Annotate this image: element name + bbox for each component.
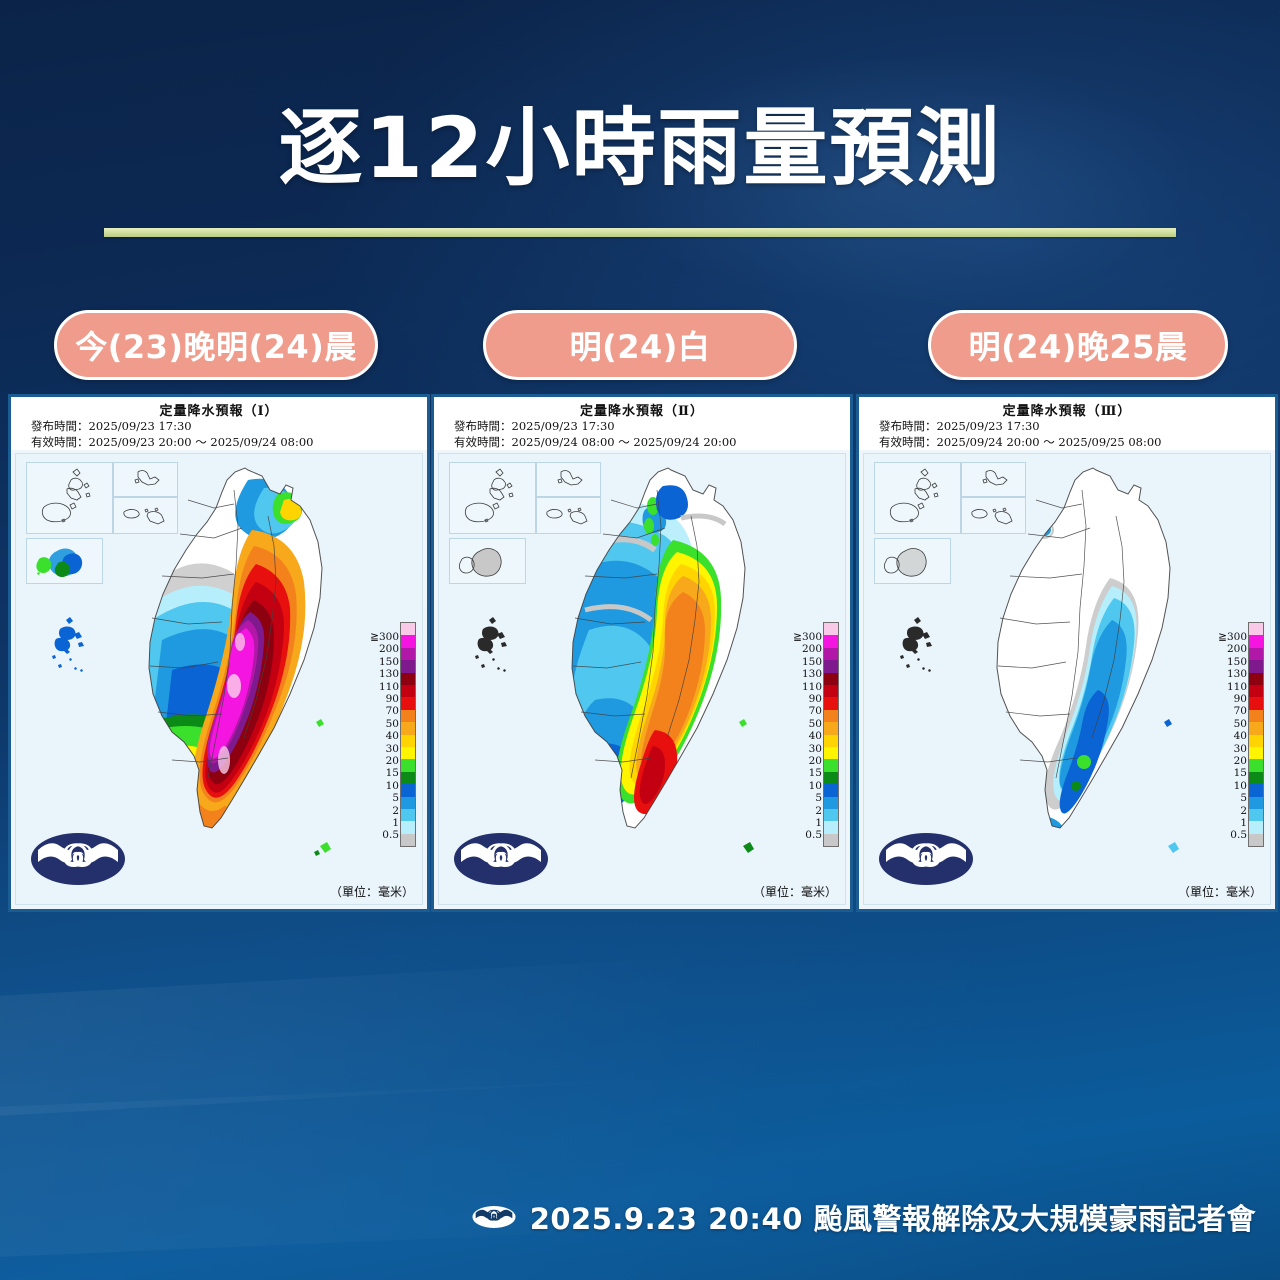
legend-2-label-10: 20 — [809, 755, 822, 767]
panel-3-issue-value: 2025/09/23 17:30 — [937, 419, 1040, 433]
legend-swatch-15 — [401, 809, 415, 821]
forecast-panel-2[interactable]: 定量降水預報（Ⅱ） 發布時間：2025/09/23 17:30 有效時間：202… — [431, 394, 853, 912]
legend-swatch-5 — [401, 685, 415, 697]
legend-swatch-1 — [824, 635, 838, 647]
legend-2-label-0: ≧300 — [793, 631, 822, 643]
legend-2-label-16: 0.5 — [805, 829, 822, 841]
legend-swatch-12 — [824, 772, 838, 784]
panel-3-valid-value: 2025/09/24 20:00 ～ 2025/09/25 08:00 — [937, 435, 1162, 449]
panel-2-valid-label: 有效時間： — [454, 435, 512, 449]
panel-2-issue-value: 2025/09/23 17:30 — [512, 419, 615, 433]
legend-1-label-14: 2 — [392, 805, 399, 817]
legend-1-labels: ≧300 200 150 130 110 90 70 50 40 30 20 1… — [370, 622, 399, 842]
panel-1-issue-value: 2025/09/23 17:30 — [89, 419, 192, 433]
legend-1-label-7: 50 — [386, 718, 399, 730]
legend-3-label-0: ≧300 — [1218, 631, 1247, 643]
legend-3-label-9: 30 — [1234, 743, 1247, 755]
forecast-panel-1[interactable]: 定量降水預報（Ⅰ） 發布時間：2025/09/23 17:30 有效時間：202… — [8, 394, 430, 912]
legend-3-label-15: 1 — [1240, 817, 1247, 829]
legend-swatch-17 — [401, 834, 415, 846]
legend-3-label-1: 200 — [1227, 643, 1247, 655]
panel-1-valid-time: 有效時間：2025/09/23 20:00 ～ 2025/09/24 08:00 — [17, 435, 421, 451]
panel-2-valid-value: 2025/09/24 08:00 ～ 2025/09/24 20:00 — [512, 435, 737, 449]
legend-2-label-15: 1 — [815, 817, 822, 829]
background-sheen-mid — [0, 924, 1280, 1116]
legend-swatch-7 — [824, 710, 838, 722]
panel-3-valid-time: 有效時間：2025/09/24 20:00 ～ 2025/09/25 08:00 — [865, 435, 1269, 451]
legend-swatch-12 — [1249, 772, 1263, 784]
panel-1-issue-time: 發布時間：2025/09/23 17:30 — [17, 419, 421, 435]
legend-3-label-7: 50 — [1234, 718, 1247, 730]
footer: 2025.9.23 20:40 颱風警報解除及大規模豪雨記者會 — [0, 1196, 1280, 1238]
page-title-wrap: 逐12小時雨量預測 — [0, 104, 1280, 192]
panel-1-header: 定量降水預報（Ⅰ） 發布時間：2025/09/23 17:30 有效時間：202… — [11, 397, 427, 450]
panel-3-unit-note: （單位：毫米） — [1178, 883, 1262, 900]
legend-swatch-9 — [1249, 735, 1263, 747]
cwa-logo-panel-2 — [453, 832, 549, 886]
legend-1-label-15: 1 — [392, 817, 399, 829]
period-pill-3-label: 明(24)晚25晨 — [969, 322, 1188, 368]
inset-penghu-2 — [449, 462, 536, 534]
legend-swatch-3 — [1249, 660, 1263, 672]
legend-swatch-11 — [1249, 759, 1263, 771]
legend-2-label-5: 90 — [809, 693, 822, 705]
legend-2-labels: ≧300 200 150 130 110 90 70 50 40 30 20 1… — [793, 622, 822, 842]
period-pill-1-label: 今(23)晚明(24)晨 — [75, 322, 357, 368]
period-pill-2[interactable]: 明(24)白 — [483, 310, 797, 380]
legend-swatch-4 — [824, 673, 838, 685]
panel-1-map[interactable]: ≧300 200 150 130 110 90 70 50 40 30 20 1… — [15, 453, 423, 905]
legend-3-label-5: 90 — [1234, 693, 1247, 705]
legend-3-label-14: 2 — [1240, 805, 1247, 817]
legend-swatch-16 — [401, 821, 415, 833]
panel-3-title: 定量降水預報（Ⅲ） — [865, 400, 1269, 419]
legend-swatch-2 — [824, 648, 838, 660]
inset-green-island-3 — [874, 538, 951, 584]
period-pill-2-label: 明(24)白 — [570, 322, 711, 368]
cwa-logo-panel-3 — [878, 832, 974, 886]
legend-3-label-11: 15 — [1234, 767, 1247, 779]
forecast-panel-row: 定量降水預報（Ⅰ） 發布時間：2025/09/23 17:30 有效時間：202… — [0, 394, 1280, 914]
legend-swatch-8 — [824, 722, 838, 734]
legend-swatch-11 — [824, 759, 838, 771]
panel-1-issue-label: 發布時間： — [31, 419, 89, 433]
panel-2-valid-time: 有效時間：2025/09/24 08:00 ～ 2025/09/24 20:00 — [440, 435, 844, 451]
legend-3: ≧300 200 150 130 110 90 70 50 40 30 20 1… — [1218, 622, 1264, 847]
legend-swatch-0 — [401, 623, 415, 635]
legend-swatch-14 — [1249, 797, 1263, 809]
penghu-islands-2 — [467, 612, 529, 684]
legend-swatch-13 — [824, 784, 838, 796]
legend-3-labels: ≧300 200 150 130 110 90 70 50 40 30 20 1… — [1218, 622, 1247, 842]
panel-3-issue-label: 發布時間： — [879, 419, 937, 433]
legend-swatch-2 — [401, 648, 415, 660]
panel-1-unit-note: （單位：毫米） — [330, 883, 414, 900]
legend-2-colorbar — [823, 622, 839, 847]
legend-swatch-3 — [824, 660, 838, 672]
legend-swatch-16 — [824, 821, 838, 833]
panel-2-map[interactable]: ≧300 200 150 130 110 90 70 50 40 30 20 1… — [438, 453, 846, 905]
legend-swatch-13 — [401, 784, 415, 796]
period-pill-row: 今(23)晚明(24)晨 明(24)白 明(24)晚25晨 — [0, 310, 1280, 382]
title-divider — [104, 228, 1176, 237]
legend-swatch-16 — [1249, 821, 1263, 833]
legend-swatch-17 — [824, 834, 838, 846]
legend-3-colorbar — [1248, 622, 1264, 847]
period-pill-3[interactable]: 明(24)晚25晨 — [928, 310, 1228, 380]
period-pill-1[interactable]: 今(23)晚明(24)晨 — [54, 310, 378, 380]
page-title: 逐12小時雨量預測 — [0, 104, 1280, 192]
legend-swatch-3 — [401, 660, 415, 672]
legend-swatch-17 — [1249, 834, 1263, 846]
footer-text: 2025.9.23 20:40 颱風警報解除及大規模豪雨記者會 — [530, 1196, 1256, 1238]
legend-swatch-15 — [1249, 809, 1263, 821]
legend-2-label-11: 15 — [809, 767, 822, 779]
legend-1-label-11: 15 — [386, 767, 399, 779]
legend-swatch-14 — [824, 797, 838, 809]
legend-1-label-10: 20 — [386, 755, 399, 767]
legend-swatch-12 — [401, 772, 415, 784]
panel-1-valid-label: 有效時間： — [31, 435, 89, 449]
legend-1-label-12: 10 — [386, 780, 399, 792]
legend-swatch-0 — [1249, 623, 1263, 635]
panel-2-unit-note: （單位：毫米） — [753, 883, 837, 900]
legend-1-label-2: 150 — [379, 656, 399, 668]
panel-1-title: 定量降水預報（Ⅰ） — [17, 400, 421, 419]
legend-3-label-16: 0.5 — [1230, 829, 1247, 841]
legend-3-label-13: 5 — [1240, 792, 1247, 804]
legend-1-label-4: 110 — [379, 681, 399, 693]
legend-2-label-4: 110 — [802, 681, 822, 693]
legend-swatch-8 — [401, 722, 415, 734]
legend-3-label-3: 130 — [1227, 668, 1247, 680]
legend-swatch-9 — [401, 735, 415, 747]
forecast-panel-3[interactable]: 定量降水預報（Ⅲ） 發布時間：2025/09/23 17:30 有效時間：202… — [856, 394, 1278, 912]
legend-2-label-9: 30 — [809, 743, 822, 755]
legend-swatch-1 — [1249, 635, 1263, 647]
legend-3-label-4: 110 — [1227, 681, 1247, 693]
legend-1-label-5: 90 — [386, 693, 399, 705]
legend-swatch-4 — [1249, 673, 1263, 685]
legend-3-label-10: 20 — [1234, 755, 1247, 767]
legend-swatch-6 — [401, 697, 415, 709]
legend-swatch-7 — [401, 710, 415, 722]
legend-3-label-8: 40 — [1234, 730, 1247, 742]
taiwan-map-1 — [128, 460, 358, 900]
legend-2-label-13: 5 — [815, 792, 822, 804]
legend-2-label-1: 200 — [802, 643, 822, 655]
legend-2-label-14: 2 — [815, 805, 822, 817]
penghu-islands-3 — [892, 612, 954, 684]
legend-swatch-13 — [1249, 784, 1263, 796]
legend-swatch-2 — [1249, 648, 1263, 660]
legend-1-colorbar — [400, 622, 416, 847]
legend-swatch-10 — [401, 747, 415, 759]
penghu-islands-1 — [44, 612, 106, 684]
legend-2-label-6: 70 — [809, 705, 822, 717]
legend-swatch-6 — [1249, 697, 1263, 709]
inset-green-island-1 — [26, 538, 103, 584]
cwa-logo-footer-icon — [472, 1203, 516, 1231]
legend-swatch-9 — [824, 735, 838, 747]
legend-swatch-10 — [824, 747, 838, 759]
inset-penghu-1 — [26, 462, 113, 534]
panel-1-valid-value: 2025/09/23 20:00 ～ 2025/09/24 08:00 — [89, 435, 314, 449]
inset-green-island-2 — [449, 538, 526, 584]
legend-1: ≧300 200 150 130 110 90 70 50 40 30 20 1… — [370, 622, 416, 847]
panel-2-header: 定量降水預報（Ⅱ） 發布時間：2025/09/23 17:30 有效時間：202… — [434, 397, 850, 450]
legend-swatch-1 — [401, 635, 415, 647]
inset-penghu-3 — [874, 462, 961, 534]
legend-swatch-5 — [1249, 685, 1263, 697]
legend-2: ≧300 200 150 130 110 90 70 50 40 30 20 1… — [793, 622, 839, 847]
legend-swatch-0 — [824, 623, 838, 635]
legend-swatch-14 — [401, 797, 415, 809]
legend-2-label-7: 50 — [809, 718, 822, 730]
panel-2-issue-label: 發布時間： — [454, 419, 512, 433]
legend-1-label-3: 130 — [379, 668, 399, 680]
cwa-logo-panel-1 — [30, 832, 126, 886]
legend-swatch-5 — [824, 685, 838, 697]
taiwan-map-3 — [976, 460, 1206, 900]
legend-1-label-9: 30 — [386, 743, 399, 755]
legend-1-label-6: 70 — [386, 705, 399, 717]
legend-3-label-2: 150 — [1227, 656, 1247, 668]
panel-2-issue-time: 發布時間：2025/09/23 17:30 — [440, 419, 844, 435]
legend-swatch-6 — [824, 697, 838, 709]
legend-3-label-12: 10 — [1234, 780, 1247, 792]
legend-swatch-15 — [824, 809, 838, 821]
panel-3-valid-label: 有效時間： — [879, 435, 937, 449]
panel-2-title: 定量降水預報（Ⅱ） — [440, 400, 844, 419]
taiwan-map-2 — [551, 460, 781, 900]
legend-1-label-1: 200 — [379, 643, 399, 655]
legend-2-label-2: 150 — [802, 656, 822, 668]
legend-swatch-4 — [401, 673, 415, 685]
legend-3-label-6: 70 — [1234, 705, 1247, 717]
legend-2-label-3: 130 — [802, 668, 822, 680]
legend-1-label-13: 5 — [392, 792, 399, 804]
legend-swatch-10 — [1249, 747, 1263, 759]
legend-1-label-8: 40 — [386, 730, 399, 742]
panel-3-header: 定量降水預報（Ⅲ） 發布時間：2025/09/23 17:30 有效時間：202… — [859, 397, 1275, 450]
legend-swatch-11 — [401, 759, 415, 771]
legend-swatch-8 — [1249, 722, 1263, 734]
legend-1-label-16: 0.5 — [382, 829, 399, 841]
legend-2-label-8: 40 — [809, 730, 822, 742]
legend-2-label-12: 10 — [809, 780, 822, 792]
legend-swatch-7 — [1249, 710, 1263, 722]
panel-3-map[interactable]: ≧300 200 150 130 110 90 70 50 40 30 20 1… — [863, 453, 1271, 905]
legend-1-label-0: ≧300 — [370, 631, 399, 643]
panel-3-issue-time: 發布時間：2025/09/23 17:30 — [865, 419, 1269, 435]
